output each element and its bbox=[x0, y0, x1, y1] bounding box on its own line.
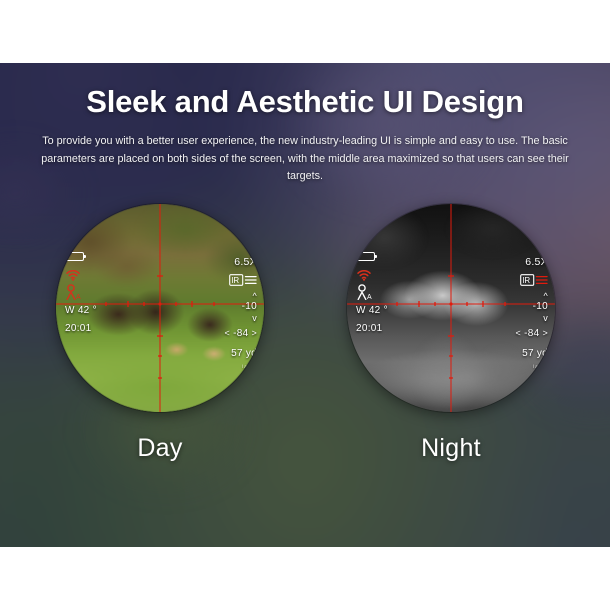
scope-panel-night: A W 42 ° 20:01 bbox=[336, 204, 566, 463]
scope-caption-day: Day bbox=[45, 434, 275, 463]
page-title: Sleek and Aesthetic UI Design bbox=[0, 85, 610, 119]
scene-image-day bbox=[56, 204, 264, 412]
scope-caption-night: Night bbox=[336, 434, 566, 463]
page-subtitle: To provide you with a better user experi… bbox=[40, 133, 570, 185]
heading-block: Sleek and Aesthetic UI Design To provide… bbox=[0, 63, 610, 186]
scope-comparison: A W 42 ° 20:01 bbox=[0, 204, 610, 547]
scene-image-night bbox=[347, 204, 555, 412]
scope-view-night[interactable]: A W 42 ° 20:01 bbox=[347, 204, 555, 412]
scene-foliage-night bbox=[347, 204, 555, 412]
scope-panel-day: A W 42 ° 20:01 bbox=[45, 204, 275, 463]
scope-view-day[interactable]: A W 42 ° 20:01 bbox=[56, 204, 264, 412]
hero-banner: Sleek and Aesthetic UI Design To provide… bbox=[0, 63, 610, 547]
scene-blur-day bbox=[56, 204, 264, 412]
page-root: Sleek and Aesthetic UI Design To provide… bbox=[0, 0, 610, 610]
